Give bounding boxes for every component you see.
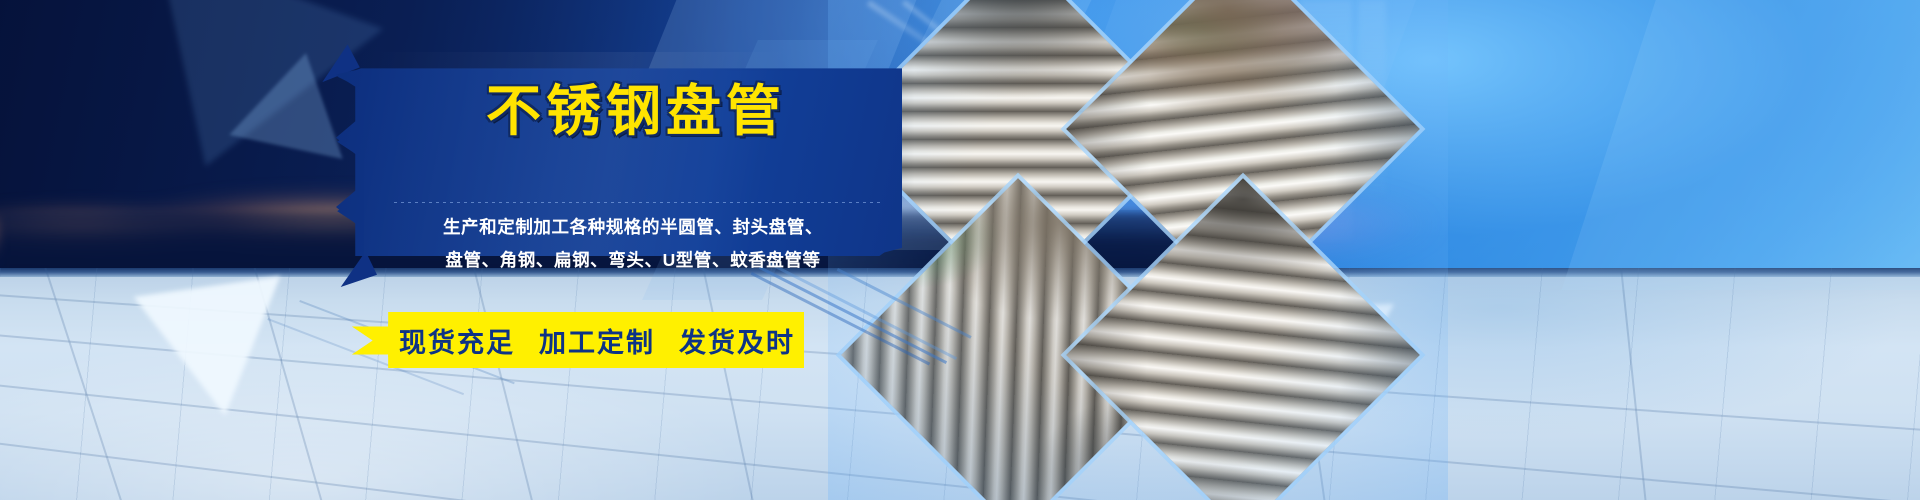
collage-tile-4 <box>1066 178 1420 500</box>
panel-divider <box>394 202 880 203</box>
white-triangle-glow <box>134 276 299 425</box>
promo-banner: 不锈钢盘管 生产和定制加工各种规格的半圆管、封头盘管、 盘管、角钢、扁钢、弯头、… <box>0 0 1920 500</box>
collage-tile-4-photo <box>1066 178 1420 500</box>
slogan-item-3: 发货及时 <box>679 321 795 360</box>
subtitle-line-2: 盘管、角钢、扁钢、弯头、U型管、蚊香盘管等 <box>390 247 876 272</box>
slogan-ribbon: 现货充足 加工定制 发货及时 <box>352 312 804 368</box>
slogan-item-2: 加工定制 <box>539 321 655 360</box>
subtitle-line-1: 生产和定制加工各种规格的半圆管、封头盘管、 <box>390 214 876 239</box>
page-title: 不锈钢盘管 <box>396 84 876 139</box>
headline-panel: 不锈钢盘管 生产和定制加工各种规格的半圆管、封头盘管、 盘管、角钢、扁钢、弯头、… <box>336 52 902 256</box>
slogan-ribbon-text: 现货充足 加工定制 发货及时 <box>352 312 804 368</box>
headline-panel-content: 不锈钢盘管 生产和定制加工各种规格的半圆管、封头盘管、 盘管、角钢、扁钢、弯头、… <box>336 52 902 256</box>
product-image-collage <box>828 0 1448 500</box>
slogan-item-1: 现货充足 <box>399 321 515 360</box>
